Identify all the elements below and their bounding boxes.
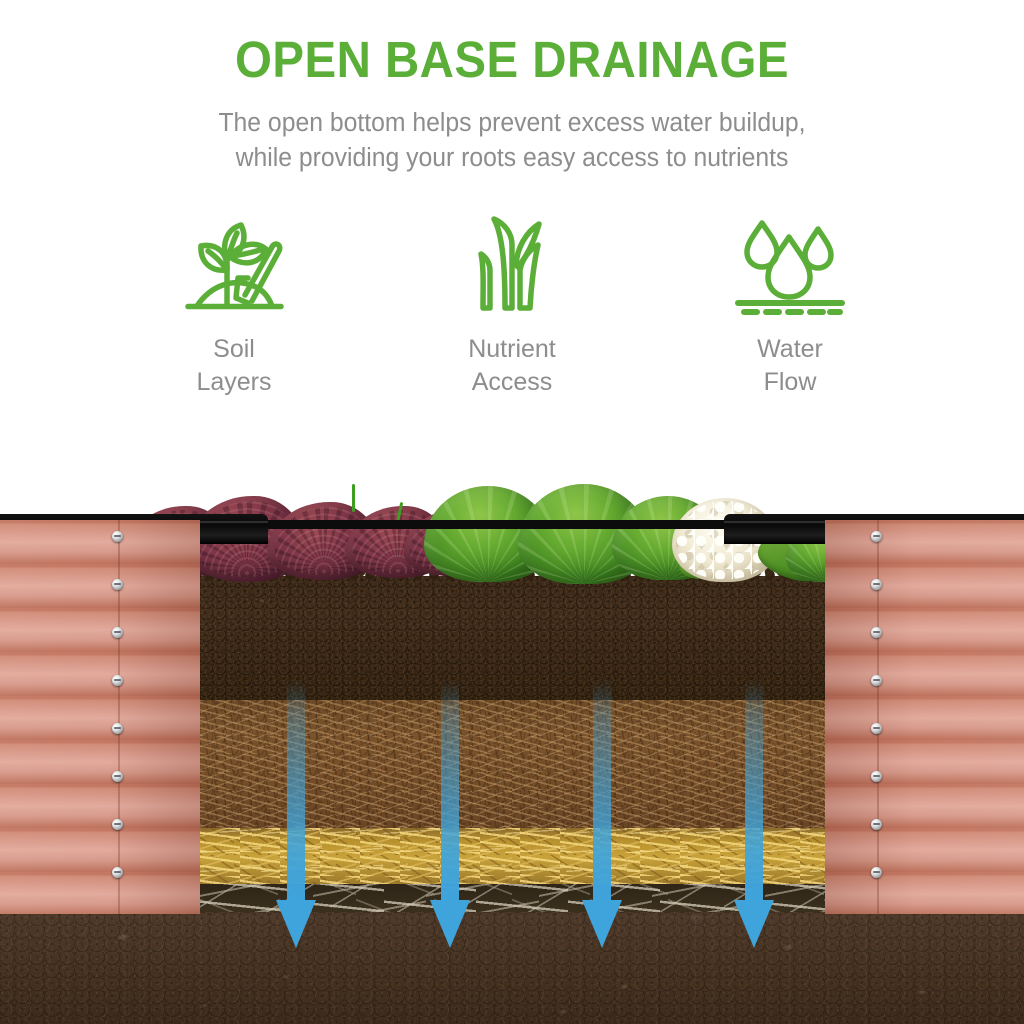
- screw-column: [871, 520, 883, 914]
- planter-panel-left: [0, 520, 200, 914]
- screw-icon: [112, 675, 123, 686]
- screw-icon: [871, 627, 882, 638]
- screw-column: [112, 520, 124, 914]
- planter-panel-right: [825, 520, 1024, 914]
- panel-shading: [0, 520, 200, 914]
- feature-label-line-2: Layers: [196, 366, 271, 399]
- arrow-shaft: [745, 680, 763, 902]
- feature-water-flow-label: Water Flow: [757, 333, 823, 398]
- feature-soil-layers-label: Soil Layers: [196, 333, 271, 398]
- water-flow-arrow: [436, 680, 464, 948]
- arrow-head: [430, 900, 470, 948]
- screw-icon: [112, 723, 123, 734]
- subtitle-line-2: while providing your roots easy access t…: [15, 141, 1008, 176]
- feature-label-line-1: Soil: [196, 333, 271, 366]
- feature-list: Soil Layers Nutrient Access: [0, 212, 1024, 424]
- native-ground-soil: [0, 900, 1024, 1024]
- water-flow-arrow: [282, 680, 310, 948]
- plant-shovel-icon: [178, 212, 290, 317]
- screw-icon: [871, 723, 882, 734]
- screw-icon: [112, 531, 123, 542]
- feature-label-line-1: Nutrient: [468, 333, 556, 366]
- screw-icon: [871, 675, 882, 686]
- feature-nutrient-access: Nutrient Access: [373, 212, 651, 398]
- arrow-shaft: [441, 680, 459, 902]
- screw-icon: [112, 819, 123, 830]
- feature-label-line-2: Flow: [757, 366, 823, 399]
- arrow-head: [582, 900, 622, 948]
- garden-bed-illustration: [0, 424, 1024, 1024]
- grass-blades-icon: [456, 212, 568, 317]
- screw-icon: [871, 531, 882, 542]
- screw-icon: [871, 771, 882, 782]
- feature-water-flow: Water Flow: [651, 212, 929, 398]
- planter-rail-back: [240, 520, 754, 529]
- feature-label-line-2: Access: [468, 366, 556, 399]
- panel-shading: [825, 520, 1024, 914]
- subtitle-line-1: The open bottom helps prevent excess wat…: [15, 106, 1008, 141]
- feature-nutrient-access-label: Nutrient Access: [468, 333, 556, 398]
- screw-icon: [871, 867, 882, 878]
- feature-label-line-1: Water: [757, 333, 823, 366]
- arrow-head: [734, 900, 774, 948]
- screw-icon: [112, 771, 123, 782]
- screw-icon: [112, 579, 123, 590]
- water-flow-arrow: [588, 680, 616, 948]
- screw-icon: [112, 867, 123, 878]
- feature-soil-layers: Soil Layers: [95, 212, 373, 398]
- screw-icon: [112, 627, 123, 638]
- water-drops-soil-icon: [730, 212, 850, 317]
- header: OPEN BASE DRAINAGE The open bottom helps…: [0, 0, 1024, 200]
- page-subtitle: The open bottom helps prevent excess wat…: [15, 106, 1008, 176]
- page-title: OPEN BASE DRAINAGE: [36, 34, 988, 85]
- water-flow-arrow: [740, 680, 768, 948]
- arrow-shaft: [593, 680, 611, 902]
- arrow-head: [276, 900, 316, 948]
- plant-sprout: [352, 484, 355, 512]
- screw-icon: [871, 579, 882, 590]
- arrow-shaft: [287, 680, 305, 902]
- screw-icon: [871, 819, 882, 830]
